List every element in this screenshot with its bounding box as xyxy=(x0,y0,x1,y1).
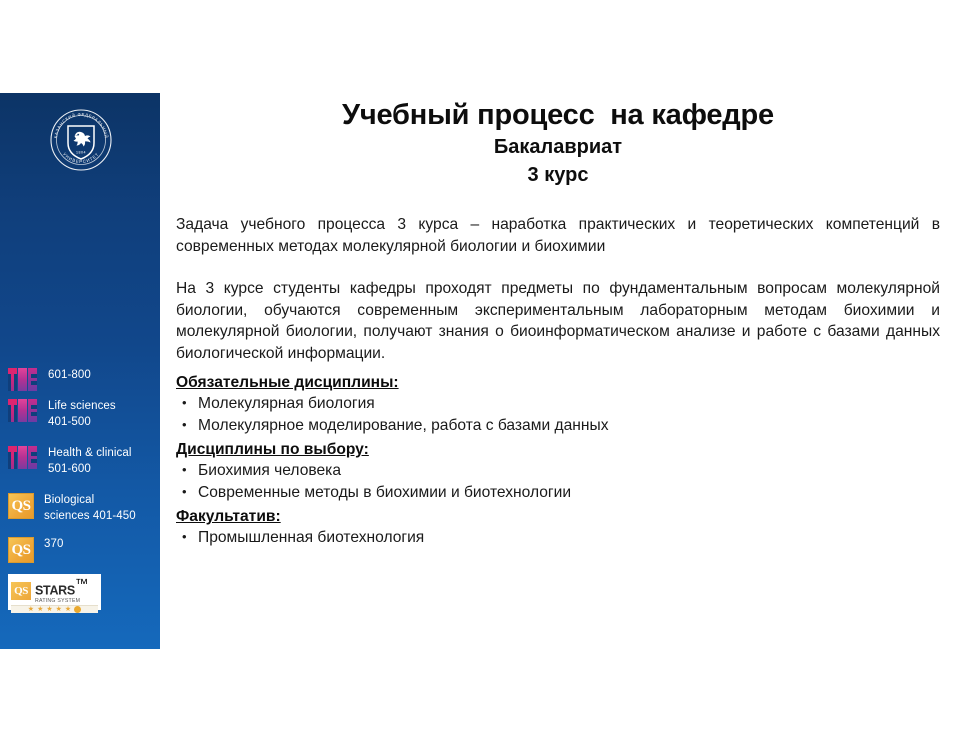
ranking-label: Life sciences 401-500 xyxy=(48,399,116,430)
section-heading-elective: Дисциплины по выбору: xyxy=(176,439,940,460)
list-item: Молекулярная биология xyxy=(176,393,940,415)
the-logo-icon xyxy=(8,399,38,422)
svg-text:1804: 1804 xyxy=(76,151,86,155)
ranking-label: Health & clinical 501-600 xyxy=(48,446,132,477)
slide-canvas: КАЗАНСКИЙ ФЕДЕРАЛЬНЫЙ УНИВЕРСИТЕТ 1804 xyxy=(0,0,980,735)
qs-logo-icon: QS xyxy=(8,493,34,519)
section-heading-optional: Факультатив: xyxy=(176,506,940,527)
star-icon: ★ xyxy=(28,606,34,613)
slide-subtitle-degree: Бакалавриат xyxy=(176,135,940,160)
ranking-label: 601-800 xyxy=(48,368,91,384)
star-icon: ★ xyxy=(46,606,52,613)
course-list-optional: Промышленная биотехнология xyxy=(176,527,940,549)
trademark-symbol: ™ xyxy=(75,576,88,591)
qs-logo-icon: QS xyxy=(8,537,34,563)
list-item: Молекулярное моделирование, работа с баз… xyxy=(176,415,940,437)
ranking-row-the-life-sciences: Life sciences 401-500 xyxy=(8,399,116,430)
slide-title: Учебный процесс на кафедре xyxy=(176,98,940,132)
list-item: Современные методы в биохимии и биотехно… xyxy=(176,482,940,504)
list-item: Биохимия человека xyxy=(176,460,940,482)
the-logo-icon xyxy=(8,446,38,469)
ranking-label: Biological sciences 401-450 xyxy=(44,493,136,524)
list-item: Промышленная биотехнология xyxy=(176,527,940,549)
ranking-label: 370 xyxy=(44,537,64,553)
description-paragraph: На 3 курсе студенты кафедры проходят пре… xyxy=(176,278,940,364)
qs-stars-badge: QS STARS™ RATING SYSTEM ★ ★ ★ ★ ★ xyxy=(8,574,101,610)
slide-content: Учебный процесс на кафедре Бакалавриат 3… xyxy=(176,98,940,549)
intro-paragraph: Задача учебного процесса 3 курса – нараб… xyxy=(176,214,940,257)
qs-stars-header: QS STARS™ RATING SYSTEM xyxy=(11,577,98,605)
course-list-elective: Биохимия человека Современные методы в б… xyxy=(176,460,940,504)
ranking-row-qs-biological-sciences: QS Biological sciences 401-450 xyxy=(8,493,136,524)
sidebar-panel: КАЗАНСКИЙ ФЕДЕРАЛЬНЫЙ УНИВЕРСИТЕТ 1804 xyxy=(0,93,160,649)
ranking-row-qs-overall: QS 370 xyxy=(8,537,64,563)
ranking-row-the-overall: 601-800 xyxy=(8,368,91,391)
star-icon: ★ xyxy=(37,606,43,613)
qs-mark-icon: QS xyxy=(11,582,31,600)
qs-stars-title: STARS xyxy=(35,583,75,597)
ranking-row-the-health-clinical: Health & clinical 501-600 xyxy=(8,446,132,477)
the-logo-icon xyxy=(8,368,38,391)
qs-stars-wordmark: STARS™ RATING SYSTEM xyxy=(35,577,88,605)
section-heading-required: Обязательные дисциплины: xyxy=(176,372,940,393)
course-list-required: Молекулярная биология Молекулярное модел… xyxy=(176,393,940,437)
rating-dot-icon xyxy=(74,606,81,613)
university-crest-icon: КАЗАНСКИЙ ФЕДЕРАЛЬНЫЙ УНИВЕРСИТЕТ 1804 xyxy=(48,107,114,173)
slide-subtitle-year: 3 курс xyxy=(176,163,940,188)
qs-stars-rating-strip: ★ ★ ★ ★ ★ xyxy=(11,605,98,613)
star-icon: ★ xyxy=(65,606,71,613)
star-icon: ★ xyxy=(56,606,62,613)
